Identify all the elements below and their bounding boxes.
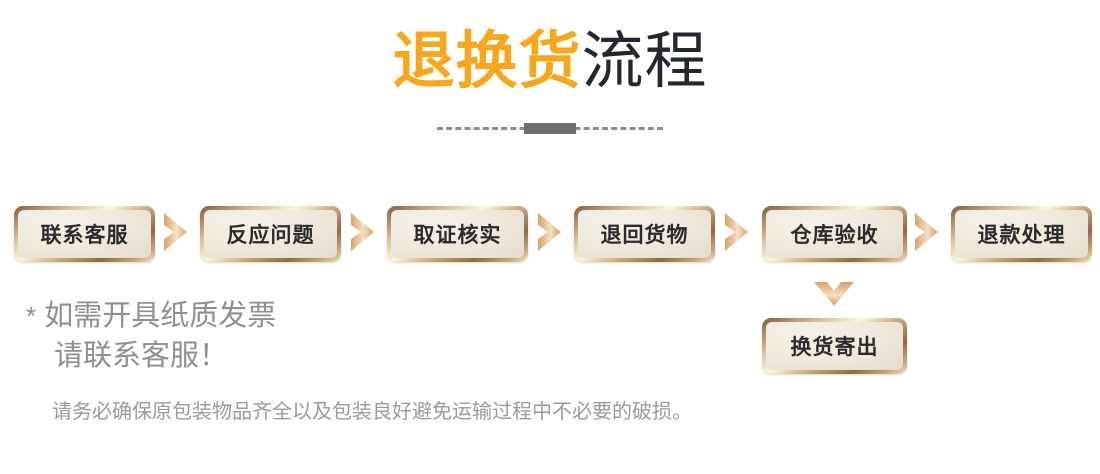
flow-step-label: 换货寄出 bbox=[791, 331, 879, 361]
packaging-note: 请务必确保原包装物品齐全以及包装良好避免运输过程中不必要的破损。 bbox=[52, 398, 692, 426]
flow-arrow-3 bbox=[537, 212, 563, 252]
flow-step-label: 联系客服 bbox=[41, 219, 129, 249]
flow-step-4[interactable]: 退回货物 bbox=[574, 206, 715, 262]
flow-step-3[interactable]: 取证核实 bbox=[387, 206, 528, 262]
flow-step-label: 退款处理 bbox=[978, 219, 1066, 249]
flow-step-surface: 换货寄出 bbox=[766, 322, 903, 370]
flow-arrow-4 bbox=[724, 212, 750, 252]
page-title-rest: 流程 bbox=[582, 27, 708, 96]
flow-step-label: 反应问题 bbox=[227, 219, 315, 249]
flow-step-2[interactable]: 反应问题 bbox=[200, 206, 341, 262]
flow-step-surface: 反应问题 bbox=[204, 210, 337, 258]
flow-step-surface: 取证核实 bbox=[391, 210, 524, 258]
divider-center-block bbox=[524, 123, 576, 134]
invoice-note: * 如需开具纸质发票 请联系客服！ bbox=[26, 296, 276, 376]
flow-step-label: 取证核实 bbox=[414, 219, 502, 249]
title-divider bbox=[0, 122, 1100, 136]
page-title-accent: 退换货 bbox=[392, 27, 581, 96]
flow-step-surface: 退回货物 bbox=[578, 210, 711, 258]
flow-step-surface: 仓库验收 bbox=[766, 210, 903, 258]
flow-arrow-1 bbox=[163, 212, 189, 252]
page-title: 退换货流程 bbox=[0, 26, 1100, 98]
flow-arrow-5 bbox=[914, 212, 940, 252]
asterisk-icon: * bbox=[26, 301, 36, 331]
invoice-note-line1: 如需开具纸质发票 bbox=[44, 300, 276, 332]
flow-step-label: 退回货物 bbox=[601, 219, 689, 249]
returns-flow-infographic: 退换货流程 联系客服反应问题取证核实退回货物仓库验收退款处理换货寄出 * 如需开… bbox=[0, 0, 1100, 474]
flow-step-5[interactable]: 仓库验收 bbox=[762, 206, 907, 262]
flow-step-surface: 联系客服 bbox=[18, 210, 151, 258]
flow-arrow-2 bbox=[350, 212, 376, 252]
flow-step-surface: 退款处理 bbox=[955, 210, 1088, 258]
flow-step-branch-exchange[interactable]: 换货寄出 bbox=[762, 318, 907, 374]
branch-arrow-down bbox=[813, 281, 855, 311]
invoice-note-line2: 请联系客服！ bbox=[26, 336, 276, 376]
flow-step-1[interactable]: 联系客服 bbox=[14, 206, 155, 262]
flow-step-6[interactable]: 退款处理 bbox=[951, 206, 1092, 262]
flow-step-label: 仓库验收 bbox=[791, 219, 879, 249]
